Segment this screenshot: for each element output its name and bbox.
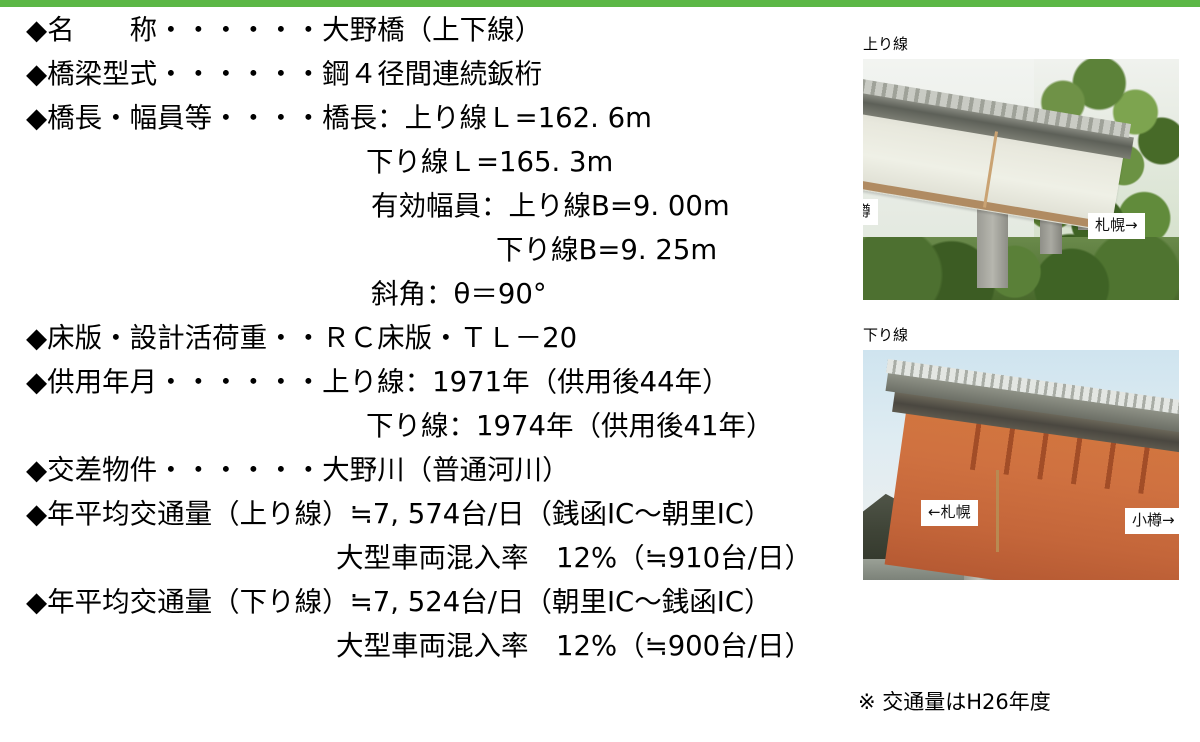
callout-direction-otaru-lower: 小樽→ xyxy=(1125,508,1179,534)
spec-line-crossing: ◆交差物件・・・・・・大野川（普通河川） xyxy=(26,448,856,492)
photo-downbound-bridge: ←札幌 小樽→ xyxy=(863,350,1179,580)
spec-line-traffic-down: ◆年平均交通量（下り線）≒7, 524台/日（朝里IC〜銭函IC） xyxy=(26,580,856,624)
callout-direction-sapporo-lower: ←札幌 xyxy=(921,500,978,526)
spec-line-length-down: 下り線Ｌ=165. 3m xyxy=(26,140,856,184)
spec-line-traffic-dn-big: 大型車両混入率 12%（≒900台/日） xyxy=(26,624,856,668)
spec-line-traffic-up: ◆年平均交通量（上り線）≒7, 574台/日（銭函IC〜朝里IC） xyxy=(26,492,856,536)
spec-line-skew-angle: 斜角：θ＝90° xyxy=(26,272,856,316)
slide-root: ◆名 称・・・・・・大野橋（上下線） ◆橋梁型式・・・・・・鋼４径間連続鈑桁 ◆… xyxy=(0,0,1200,742)
callout-direction-otaru-upper: ←小樽 xyxy=(863,199,878,225)
photo-block-lower: 下り線 ←札幌 小樽→ xyxy=(863,324,1179,580)
callout-direction-sapporo-upper: 札幌→ xyxy=(1088,213,1145,239)
photo-caption-upper: 上り線 xyxy=(863,33,1179,54)
spec-line-service-year: ◆供用年月・・・・・・上り線：1971年（供用後44年） xyxy=(26,360,856,404)
spec-line-width-down: 下り線B=9. 25m xyxy=(26,228,856,272)
undergrowth-upper xyxy=(863,237,1179,300)
bridge-pier-near-upper xyxy=(977,208,1009,288)
spec-line-bridge-type: ◆橋梁型式・・・・・・鋼４径間連続鈑桁 xyxy=(26,52,856,96)
photo-block-upper: 上り線 ←小樽 札幌→ xyxy=(863,33,1179,300)
spec-line-width-up: 有効幅員：上り線B=9. 00m xyxy=(26,184,856,228)
spec-line-service-down: 下り線：1974年（供用後41年） xyxy=(26,404,856,448)
spec-line-name: ◆名 称・・・・・・大野橋（上下線） xyxy=(26,8,856,52)
spec-line-length-width: ◆橋長・幅員等・・・・橋長：上り線Ｌ=162. 6m xyxy=(26,96,856,140)
photo-caption-lower: 下り線 xyxy=(863,324,1179,345)
inspection-ladder-lower xyxy=(996,470,999,553)
photo-upbound-bridge: ←小樽 札幌→ xyxy=(863,59,1179,300)
spec-line-slab-load: ◆床版・設計活荷重・・ＲＣ床版・ＴＬ－20 xyxy=(26,316,856,360)
bridge-spec-list: ◆名 称・・・・・・大野橋（上下線） ◆橋梁型式・・・・・・鋼４径間連続鈑桁 ◆… xyxy=(26,8,856,668)
traffic-year-footnote: ※ 交通量はH26年度 xyxy=(858,686,1051,716)
spec-line-traffic-up-big: 大型車両混入率 12%（≒910台/日） xyxy=(26,536,856,580)
top-accent-bar xyxy=(0,0,1200,7)
